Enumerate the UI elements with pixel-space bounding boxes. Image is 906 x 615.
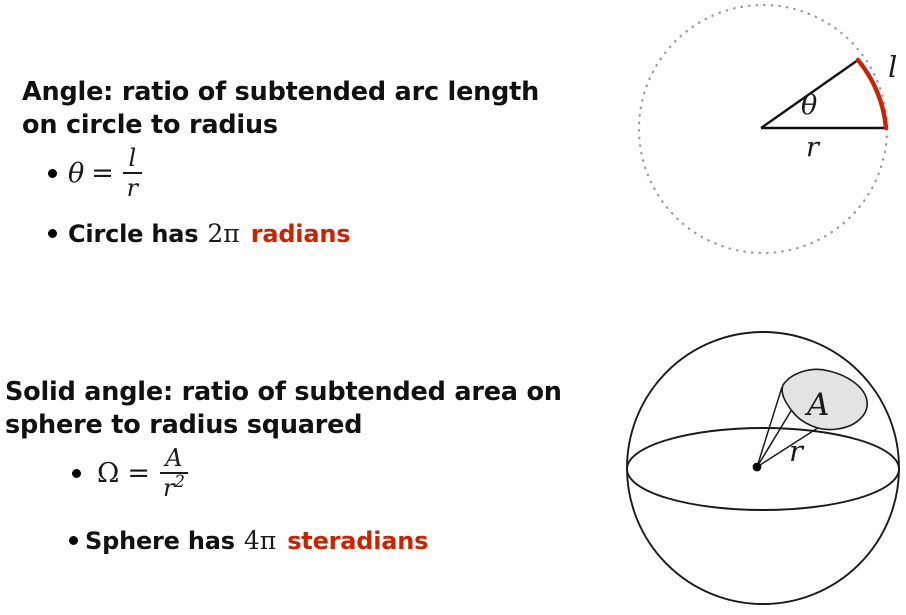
solid-angle-heading: Solid angle: ratio of subtended area on … [5, 376, 565, 442]
list-item: θ = l r [48, 146, 144, 201]
equals-sign: = [127, 458, 150, 489]
equator-ellipse [627, 428, 899, 510]
steradians-keyword: steradians [287, 527, 428, 555]
arc-label: l [888, 50, 897, 84]
list-item: Ω = A r2 [72, 446, 190, 501]
theta-symbol: θ [68, 158, 84, 189]
arc-length-highlight [858, 60, 886, 128]
bullet-dot-icon [72, 469, 81, 478]
fraction-numerator: l [126, 146, 140, 170]
list-item: Sphere has 4π steradians [69, 526, 428, 555]
fraction-numerator: A [162, 446, 185, 470]
list-item: Circle has 2π radians [48, 219, 350, 248]
fraction-a-over-r-squared: A r2 [160, 446, 188, 501]
omega-symbol: Ω [97, 458, 119, 489]
two-pi-math: 2π [207, 219, 239, 248]
bullet-dot-icon [48, 169, 57, 178]
radius-label: r [806, 132, 821, 163]
cone-edge-left [757, 387, 782, 467]
fraction-l-over-r: l r [123, 146, 142, 201]
bullet-dot-icon [69, 536, 78, 545]
theta-label: θ [801, 90, 817, 121]
sphere-center-dot [753, 463, 762, 472]
denominator-exponent: 2 [175, 472, 185, 491]
fraction-denominator-group: r2 [160, 476, 188, 500]
fraction-denominator: r [124, 176, 141, 200]
angle-heading: Angle: ratio of subtended arc length on … [22, 76, 562, 142]
four-pi-math: 4π [244, 526, 276, 555]
sphere-steradians-statement: Sphere has 4π steradians [85, 526, 428, 555]
angle-heading-text: Angle: ratio of subtended arc length on … [22, 76, 562, 142]
circle-angle-svg: θ r l [615, 0, 906, 280]
radians-keyword: radians [251, 220, 351, 248]
area-label: A [804, 387, 829, 423]
sphere-solid-angle-diagram: A r [615, 325, 906, 615]
fraction-denominator: r [163, 474, 174, 502]
solid-angle-formula: Ω = A r2 [92, 446, 190, 501]
solid-angle-heading-text: Solid angle: ratio of subtended area on … [5, 376, 565, 442]
circle-radians-statement: Circle has 2π radians [68, 219, 350, 248]
angle-bullet-list: θ = l r Circle has 2π radians [48, 146, 568, 256]
sphere-solid-angle-svg: A r [615, 325, 906, 615]
sphere-outline [627, 332, 899, 604]
circle-angle-diagram: θ r l [615, 0, 906, 280]
solid-angle-bullet-list: Ω = A r2 Sphere has 4π steradians [72, 446, 592, 556]
equals-sign: = [91, 158, 114, 189]
sphere-has-label: Sphere has [85, 527, 235, 555]
sphere-radius-label: r [789, 434, 805, 468]
circle-has-label: Circle has [68, 220, 198, 248]
angle-formula: θ = l r [68, 146, 144, 201]
bullet-dot-icon [48, 229, 57, 238]
slide-canvas: Angle: ratio of subtended arc length on … [0, 0, 906, 602]
